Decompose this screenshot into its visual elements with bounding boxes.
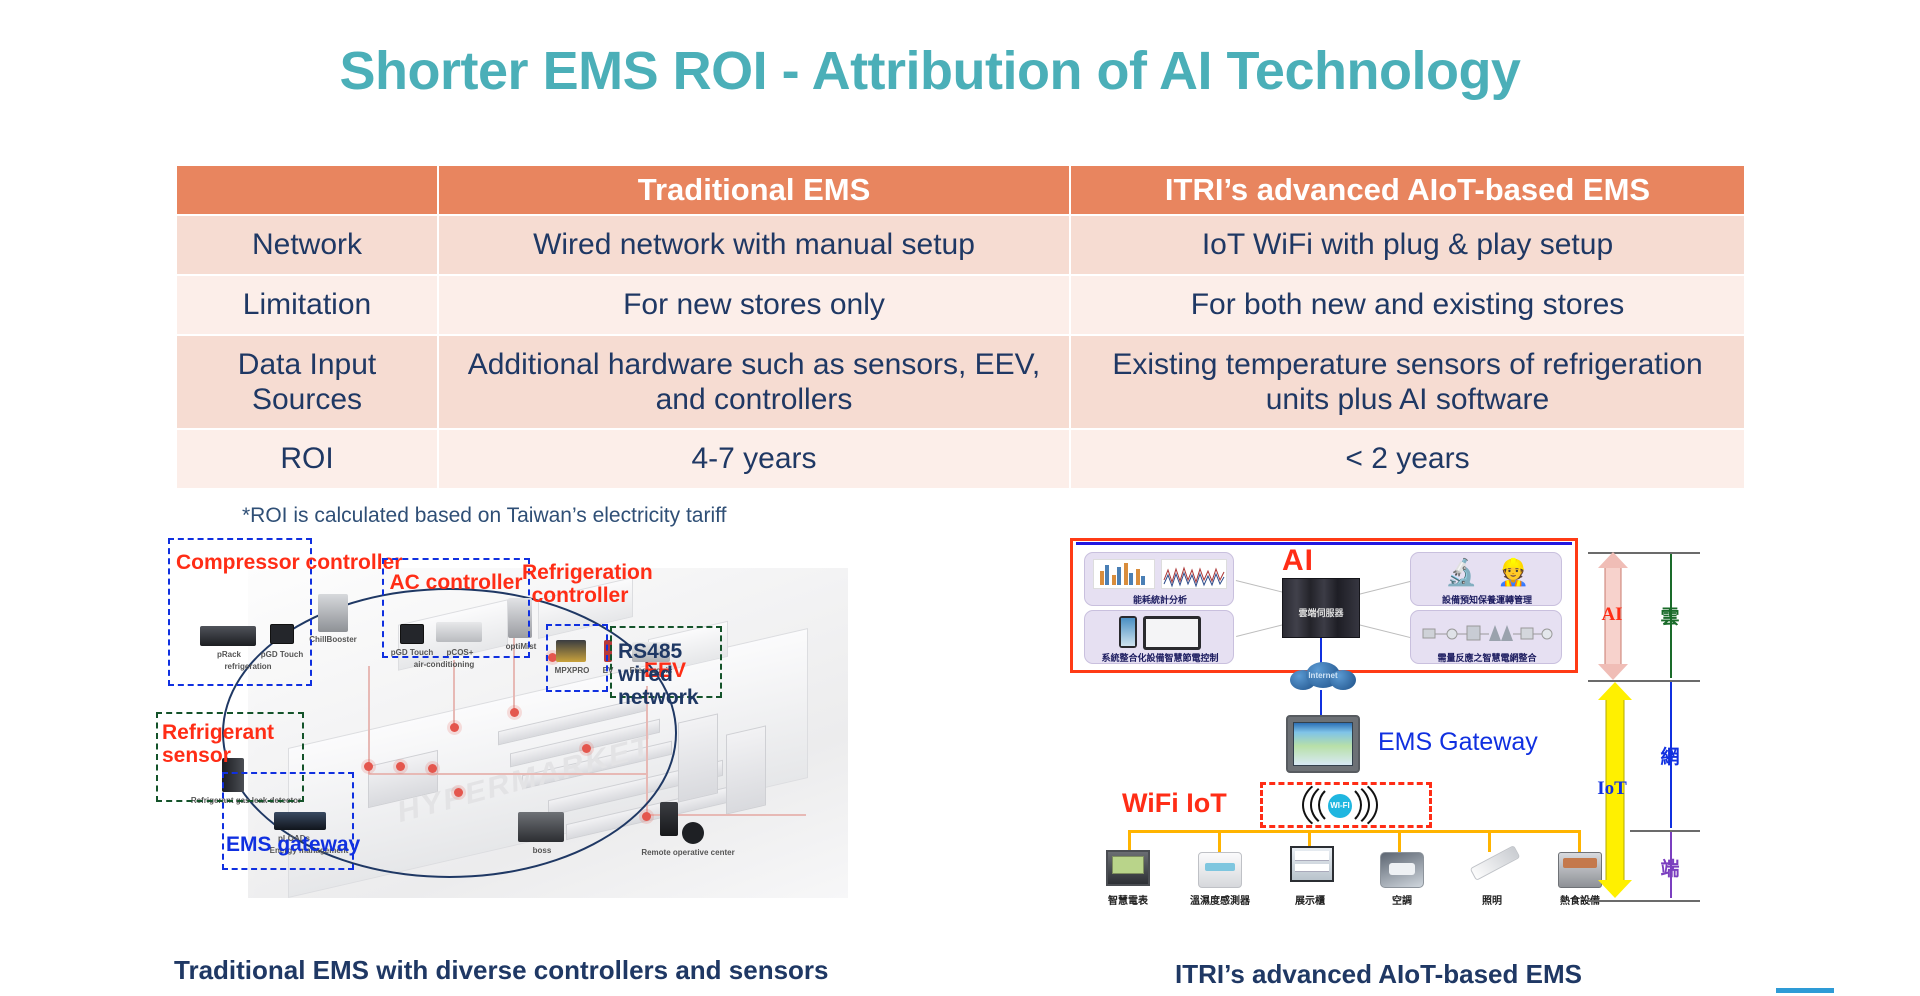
- table-row: Network Wired network with manual setup …: [177, 216, 1744, 274]
- device-caption: Remote operative center: [640, 848, 736, 857]
- device-bus: [1128, 830, 1580, 833]
- wifi-icon: WI-FI: [1328, 794, 1352, 818]
- callout-label-refrigeration-controller: Refrigeration controller: [522, 562, 638, 607]
- device-caption: air-conditioning: [386, 660, 502, 669]
- device-remote-center-dial: [682, 822, 704, 844]
- ems-gateway-device[interactable]: [1286, 715, 1360, 773]
- row-label: Network: [177, 216, 437, 274]
- end-device-label: 智慧電表: [1091, 892, 1165, 907]
- end-device-label: 展示櫃: [1273, 892, 1347, 907]
- slide: Shorter EMS ROI - Attribution of AI Tech…: [0, 0, 1920, 996]
- device-temp-humidity-sensor-icon: [1198, 852, 1242, 888]
- device-air-conditioner-icon: [1380, 852, 1424, 888]
- device-drop: [1578, 830, 1581, 852]
- callout-label-ems-gateway: EMS gateway: [226, 834, 350, 857]
- table-row: ROI 4-7 years < 2 years: [177, 430, 1744, 488]
- function-caption: 設備預知保養運轉管理: [1411, 593, 1563, 606]
- end-device-label: 照明: [1455, 892, 1529, 907]
- row-itri: < 2 years: [1071, 430, 1744, 488]
- device-display-cabinet-icon: [1290, 846, 1334, 882]
- device-caption: boss: [522, 846, 562, 855]
- tier-label-cloud: 雲: [1650, 602, 1690, 629]
- table-footnote: *ROI is calculated based on Taiwan’s ele…: [242, 504, 726, 528]
- device-remote-center: [660, 802, 678, 836]
- wifi-iot-label: WiFi IoT: [1122, 788, 1227, 819]
- row-traditional: Wired network with manual setup: [439, 216, 1069, 274]
- callout-box-refrigeration-controller[interactable]: [546, 624, 608, 692]
- left-diagram-caption: Traditional EMS with diverse controllers…: [174, 955, 829, 986]
- callout-label-ac-controller: AC controller: [386, 572, 526, 595]
- corner-accent-mark: [1776, 988, 1834, 993]
- bar-chart-icon: [1093, 559, 1155, 589]
- function-box-demand-response[interactable]: 需量反應之智慧電網整合: [1410, 610, 1562, 664]
- store-freezer: [678, 713, 718, 802]
- table-header-traditional: Traditional EMS: [439, 166, 1069, 214]
- gateway-screen: [1293, 722, 1353, 766]
- callout-label-compressor-controller: Compressor controller: [176, 552, 306, 575]
- internet-cloud-icon: Internet: [1286, 658, 1360, 692]
- aiot-ems-diagram: AI 能耗統計分析: [1070, 530, 1710, 925]
- device-hot-food-equipment-icon: [1558, 852, 1602, 888]
- function-caption: 系統整合化設備智慧節電控制: [1085, 651, 1235, 664]
- ems-gateway-label: EMS Gateway: [1378, 728, 1538, 757]
- tablet-icon: [1143, 616, 1201, 650]
- smart-grid-icon: [1421, 623, 1553, 643]
- page-title: Shorter EMS ROI - Attribution of AI Tech…: [0, 40, 1860, 102]
- table-header-itri: ITRI’s advanced AIoT-based EMS: [1071, 166, 1744, 214]
- end-device-label: 空調: [1365, 892, 1439, 907]
- callout-label-refrigerant-sensor: Refrigerant sensor: [162, 722, 282, 767]
- ai-label: AI: [1282, 544, 1314, 578]
- line-chart-icon: [1161, 559, 1227, 589]
- device-drop: [1398, 830, 1401, 852]
- tier-divider: [1588, 900, 1700, 902]
- row-label: Limitation: [177, 276, 437, 334]
- internet-label: Internet: [1286, 671, 1360, 680]
- traditional-ems-diagram: HYPERMARKET pRack pGD Touch refrigeratio…: [170, 540, 900, 915]
- row-itri: Existing temperature sensors of refriger…: [1071, 336, 1744, 428]
- store-freezer: [726, 725, 766, 814]
- technician-icon: 👷: [1497, 559, 1529, 585]
- table-row: Limitation For new stores only For both …: [177, 276, 1744, 334]
- function-caption: 能耗統計分析: [1085, 593, 1235, 606]
- smartphone-icon: [1119, 616, 1137, 648]
- row-traditional: For new stores only: [439, 276, 1069, 334]
- device-drop: [1128, 830, 1131, 852]
- microscope-icon: 🔬: [1445, 559, 1477, 585]
- rs485-network-note: RS485 wired network: [618, 640, 738, 709]
- tier-label-network: 網: [1650, 742, 1690, 769]
- function-caption: 需量反應之智慧電網整合: [1411, 651, 1563, 664]
- row-label: Data Input Sources: [177, 336, 437, 428]
- device-drop: [1218, 830, 1221, 852]
- end-device-label: 溫濕度感測器: [1183, 892, 1257, 907]
- device-smart-meter-icon: [1106, 850, 1150, 886]
- function-box-smart-control[interactable]: 系統整合化設備智慧節電控制: [1084, 610, 1234, 664]
- device-lighting-icon: [1470, 845, 1521, 881]
- device-drop: [1488, 830, 1491, 852]
- row-traditional: 4-7 years: [439, 430, 1069, 488]
- server-label: 雲端伺服器: [1275, 606, 1367, 619]
- tier-divider: [1630, 830, 1700, 832]
- row-itri: IoT WiFi with plug & play setup: [1071, 216, 1744, 274]
- iot-arrow-label: IoT: [1590, 778, 1634, 800]
- wire-node: [642, 812, 651, 821]
- table-header-row: Traditional EMS ITRI’s advanced AIoT-bas…: [177, 166, 1744, 214]
- row-label: ROI: [177, 430, 437, 488]
- function-box-maintenance[interactable]: 🔬 👷 設備預知保養運轉管理: [1410, 552, 1562, 606]
- row-itri: For both new and existing stores: [1071, 276, 1744, 334]
- device-chillbooster: [318, 594, 348, 632]
- ai-arrow-label: AI: [1594, 604, 1630, 626]
- right-diagram-caption: ITRI’s advanced AIoT-based EMS: [1175, 959, 1582, 990]
- table-header-blank: [177, 166, 437, 214]
- connector: [1320, 690, 1322, 716]
- function-box-energy-analysis[interactable]: 能耗統計分析: [1084, 552, 1234, 606]
- table-row: Data Input Sources Additional hardware s…: [177, 336, 1744, 428]
- tier-label-edge: 端: [1650, 854, 1690, 881]
- row-traditional: Additional hardware such as sensors, EEV…: [439, 336, 1069, 428]
- comparison-table: Traditional EMS ITRI’s advanced AIoT-bas…: [175, 164, 1746, 490]
- device-boss: [518, 812, 564, 842]
